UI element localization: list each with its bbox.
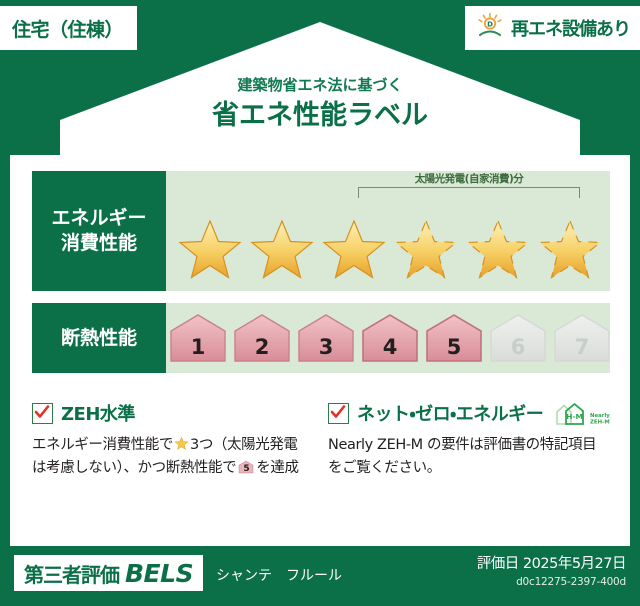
zeh-body-stars: 3つ（太陽光発電 bbox=[190, 437, 298, 453]
energy-key-line1: エネルギー bbox=[51, 206, 146, 231]
svg-text:D: D bbox=[487, 21, 493, 29]
insulation-grade-5: 5 bbox=[423, 311, 485, 365]
bels-badge-jp: 第三者評価 bbox=[24, 559, 119, 588]
insulation-performance-row: 断熱性能 1 2 3 bbox=[32, 303, 610, 373]
insulation-grade-1-label: 1 bbox=[167, 337, 229, 358]
insulation-grade-7-label: 7 bbox=[551, 337, 613, 358]
zeh-standard-title: ZEH水準 bbox=[61, 400, 135, 426]
insulation-grade-3-label: 3 bbox=[295, 337, 357, 358]
insulation-grade-1: 1 bbox=[167, 311, 229, 365]
svg-text:H-M: H-M bbox=[566, 412, 583, 421]
energy-performance-key: エネルギー 消費性能 bbox=[32, 171, 166, 291]
svg-text:Nearly: Nearly bbox=[590, 413, 610, 419]
category-chip: 住宅（住棟） bbox=[0, 6, 137, 50]
label-title-main: 省エネ性能ラベル bbox=[0, 100, 640, 132]
insulation-grade-4-label: 4 bbox=[359, 337, 421, 358]
zeh-body-part2: は考慮しない）、かつ断熱性能で bbox=[32, 460, 236, 476]
zeh-body-part3: を達成 bbox=[256, 460, 298, 476]
insulation-performance-key: 断熱性能 bbox=[32, 303, 166, 373]
energy-performance-label: 住宅（住棟） D 再エネ設備あり 建築物省エネ法に基づく 省エネ性能ラベル bbox=[0, 0, 640, 606]
zeh-m-logo: H-M Nearly ZEH-M bbox=[555, 400, 612, 426]
solar-annotation-bracket bbox=[358, 187, 580, 198]
star-solid bbox=[319, 215, 389, 285]
star-rating bbox=[166, 215, 610, 285]
energy-performance-row: エネルギー 消費性能 太陽光発電(自家消費)分 bbox=[32, 171, 610, 291]
energy-key-line2: 消費性能 bbox=[61, 231, 137, 256]
label-title-sub: 建築物省エネ法に基づく bbox=[0, 76, 640, 94]
net-zero-energy-title: ネット・ゼロ・エネルギー bbox=[357, 400, 543, 426]
solar-annotation-label: 太陽光発電(自家消費)分 bbox=[358, 173, 580, 185]
insulation-grade-3: 3 bbox=[295, 311, 357, 365]
category-chip-label: 住宅（住棟） bbox=[12, 15, 123, 42]
insulation-key-line1: 断熱性能 bbox=[61, 326, 137, 351]
net-zero-energy-block: ネット・ゼロ・エネルギー H-M Nearly ZEH-M Nearly ZEH… bbox=[328, 400, 608, 480]
star-icon bbox=[174, 436, 189, 451]
star-solid bbox=[175, 215, 245, 285]
solar-annotation: 太陽光発電(自家消費)分 bbox=[358, 173, 580, 198]
bels-badge-en: BELS bbox=[125, 559, 193, 588]
check-icon bbox=[328, 403, 349, 424]
grade-badge-icon: 5 bbox=[238, 459, 254, 475]
star-solar bbox=[391, 215, 461, 285]
zeh-standard-block: ZEH水準 エネルギー消費性能で3つ（太陽光発電は考慮しない）、かつ断熱性能で5… bbox=[32, 400, 312, 480]
insulation-grade-6-label: 6 bbox=[487, 337, 549, 358]
insulation-grade-5-label: 5 bbox=[423, 337, 485, 358]
label-title: 建築物省エネ法に基づく 省エネ性能ラベル bbox=[0, 76, 640, 132]
bels-badge: 第三者評価 BELS bbox=[14, 555, 203, 591]
zeh-body-part1: エネルギー消費性能で bbox=[32, 437, 173, 453]
renewable-chip-label: 再エネ設備あり bbox=[511, 15, 630, 41]
building-name: シャンテ フルール bbox=[216, 565, 342, 585]
renewable-chip: D 再エネ設備あり bbox=[465, 6, 640, 50]
zeh-standard-header: ZEH水準 bbox=[32, 400, 312, 426]
insulation-grade-4: 4 bbox=[359, 311, 421, 365]
label-footer: 第三者評価 BELS シャンテ フルール 評価日 2025年5月27日 d0c1… bbox=[0, 546, 640, 606]
zeh-standard-body: エネルギー消費性能で3つ（太陽光発電は考慮しない）、かつ断熱性能で5を達成 bbox=[32, 434, 310, 480]
star-solar bbox=[535, 215, 605, 285]
star-solid bbox=[247, 215, 317, 285]
insulation-grade-2: 2 bbox=[231, 311, 293, 365]
evaluation-date: 評価日 2025年5月27日 bbox=[477, 552, 626, 573]
star-solar bbox=[463, 215, 533, 285]
evaluation-uid: d0c12275-2397-400d bbox=[477, 576, 626, 588]
check-icon bbox=[32, 403, 53, 424]
insulation-performance-value: 1 2 3 4 5 bbox=[166, 303, 610, 373]
net-zero-energy-body: Nearly ZEH-M の要件は評価書の特記項目をご覧ください。 bbox=[328, 434, 606, 480]
insulation-grade-7: 7 bbox=[551, 311, 613, 365]
energy-performance-value: 太陽光発電(自家消費)分 bbox=[166, 171, 610, 291]
label-card: エネルギー 消費性能 太陽光発電(自家消費)分 bbox=[10, 155, 630, 546]
insulation-grade-scale: 1 2 3 4 5 bbox=[166, 311, 610, 365]
grade-badge-label: 5 bbox=[238, 465, 254, 474]
insulation-grade-6: 6 bbox=[487, 311, 549, 365]
sun-solar-icon: D bbox=[475, 11, 505, 45]
svg-text:ZEH-M: ZEH-M bbox=[590, 420, 610, 426]
insulation-grade-2-label: 2 bbox=[231, 337, 293, 358]
net-zero-energy-header: ネット・ゼロ・エネルギー H-M Nearly ZEH-M bbox=[328, 400, 608, 426]
evaluation-info: 評価日 2025年5月27日 d0c12275-2397-400d bbox=[477, 552, 626, 588]
